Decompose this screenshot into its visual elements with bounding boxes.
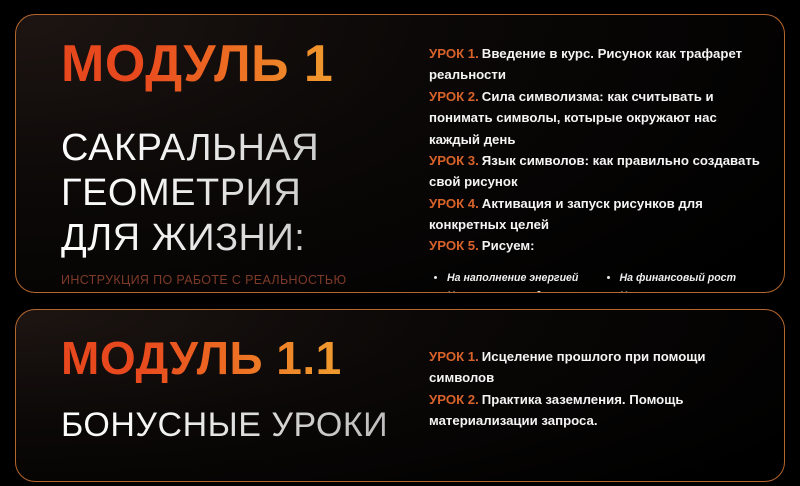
module-1-title: МОДУЛЬ 1 — [61, 37, 403, 92]
lesson-item: УРОК 1.Исцеление прошлого при помощи сим… — [429, 346, 764, 389]
bullet-item: На финансовый рост — [618, 270, 765, 287]
lesson-text: Рисуем: — [482, 238, 535, 253]
module-1-1-left-column: МОДУЛЬ 1.1 БОНУСНЫЕ УРОКИ — [16, 310, 421, 481]
lesson-item: УРОК 2.Сила символизма: как считывать и … — [429, 86, 764, 150]
lesson-label: УРОК 1. — [429, 349, 479, 364]
bullet-column-right: На финансовый рост На проявленность На р… — [602, 270, 765, 293]
module-1-1-card: МОДУЛЬ 1.1 БОНУСНЫЕ УРОКИ УРОК 1.Исцелен… — [15, 309, 785, 482]
course-title-line-2: ГЕОМЕТРИЯ — [61, 172, 301, 214]
lesson-label: УРОК 4. — [429, 196, 479, 211]
module-1-1-right-column: УРОК 1.Исцеление прошлого при помощи сим… — [421, 310, 784, 481]
lesson-item: УРОК 5.Рисуем: — [429, 235, 764, 256]
module-1-1-course-title: БОНУСНЫЕ УРОКИ — [61, 405, 403, 445]
module-1-1-lesson-list: УРОК 1.Исцеление прошлого при помощи сим… — [429, 346, 764, 432]
module-1-1-title: МОДУЛЬ 1.1 — [61, 334, 403, 383]
bullet-item: На наполнение энергией — [445, 270, 592, 287]
bullet-item: На получение подарков — [445, 288, 592, 293]
lesson-item: УРОК 2.Практика заземления. Помощь матер… — [429, 389, 764, 432]
module-1-lesson-list: УРОК 1.Введение в курс. Рисунок как траф… — [429, 43, 764, 257]
lesson-label: УРОК 2. — [429, 89, 479, 104]
module-1-left-column: МОДУЛЬ 1 САКРАЛЬНАЯ ГЕОМЕТРИЯ ДЛЯ ЖИЗНИ:… — [16, 15, 421, 292]
bullet-item: На проявленность — [618, 288, 765, 293]
course-title-line-1: САКРАЛЬНАЯ — [61, 127, 319, 169]
module-1-course-subtitle: ИНСТРУКЦИЯ ПО РАБОТЕ С РЕАЛЬНОСТЬЮ — [61, 273, 403, 287]
lesson-item: УРОК 4.Активация и запуск рисунков для к… — [429, 193, 764, 236]
module-1-bullet-columns: На наполнение энергией На получение пода… — [429, 270, 764, 293]
lesson-item: УРОК 3.Язык символов: как правильно созд… — [429, 150, 764, 193]
module-1-course-title: САКРАЛЬНАЯ ГЕОМЕТРИЯ ДЛЯ ЖИЗНИ: — [61, 126, 403, 260]
course-title-line-3: ДЛЯ ЖИЗНИ: — [61, 217, 305, 259]
module-1-right-column: УРОК 1.Введение в курс. Рисунок как траф… — [421, 15, 784, 292]
lesson-label: УРОК 1. — [429, 46, 479, 61]
lesson-label: УРОК 5. — [429, 238, 479, 253]
lesson-item: УРОК 1.Введение в курс. Рисунок как траф… — [429, 43, 764, 86]
lesson-label: УРОК 2. — [429, 392, 479, 407]
bullet-column-left: На наполнение энергией На получение пода… — [429, 270, 592, 293]
slide-root: МОДУЛЬ 1 САКРАЛЬНАЯ ГЕОМЕТРИЯ ДЛЯ ЖИЗНИ:… — [0, 0, 800, 486]
lesson-label: УРОК 3. — [429, 153, 479, 168]
module-1-card: МОДУЛЬ 1 САКРАЛЬНАЯ ГЕОМЕТРИЯ ДЛЯ ЖИЗНИ:… — [15, 14, 785, 293]
